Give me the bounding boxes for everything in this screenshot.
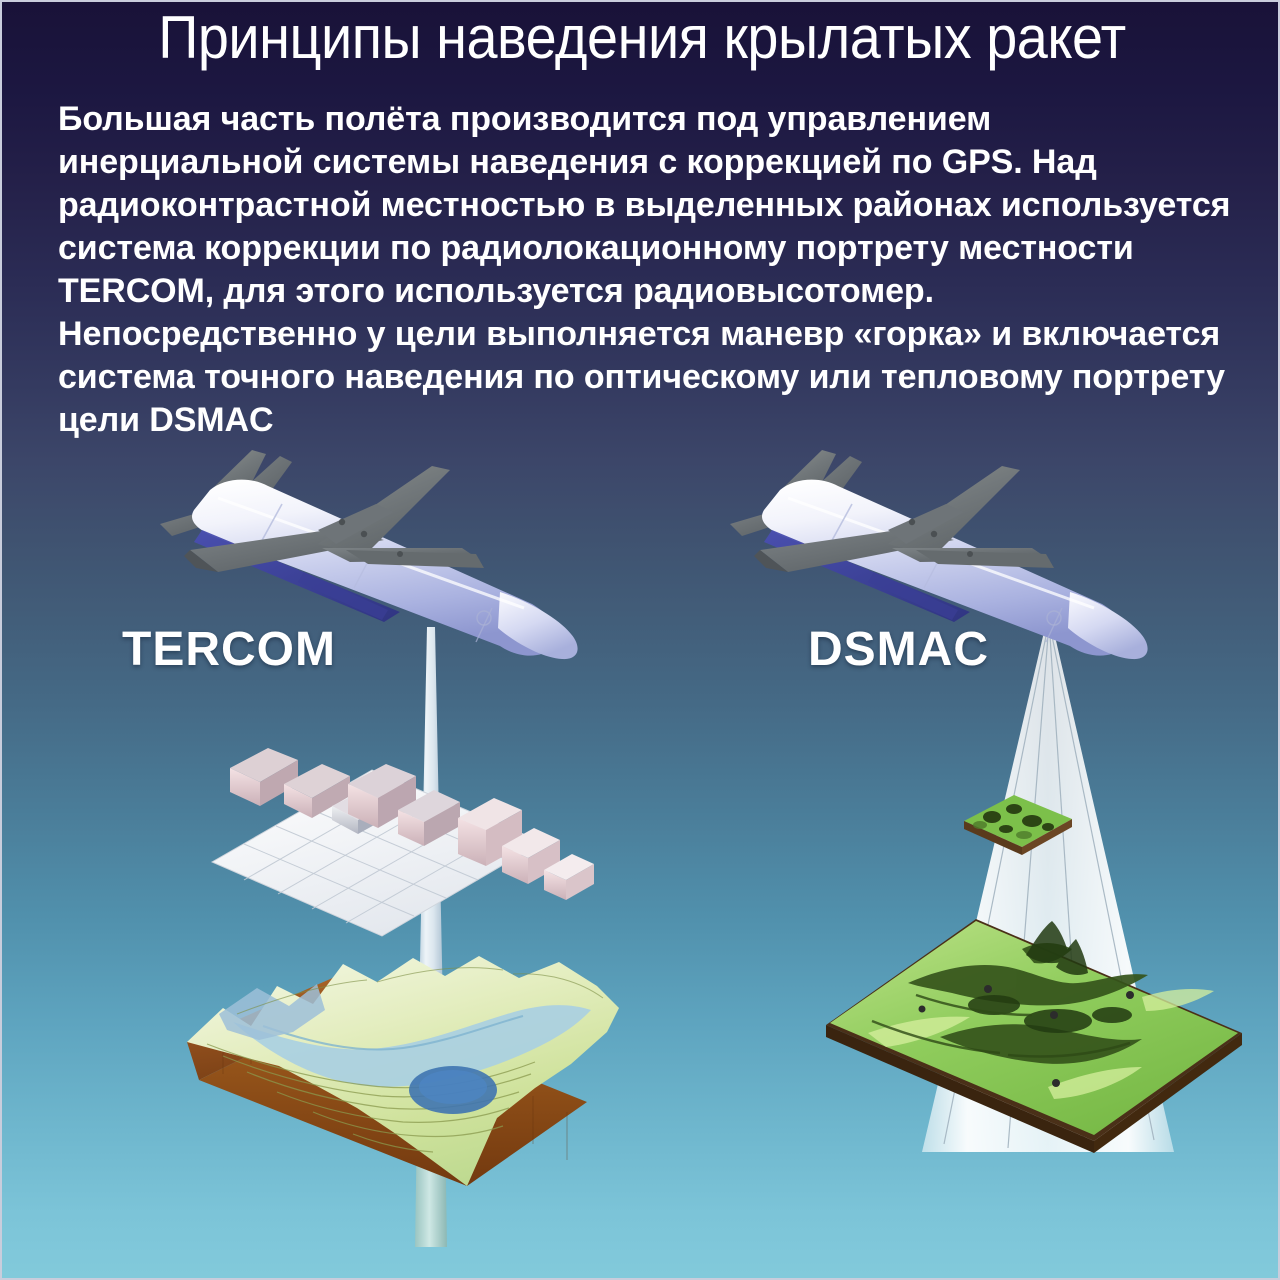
body-text-block: Большая часть полёта производится под уп… <box>58 98 1238 442</box>
body-paragraph-2: Непосредственно у цели выполняется манев… <box>58 313 1238 442</box>
tercom-diagram: TERCOM <box>122 432 662 1222</box>
reference-image-patch <box>952 787 1082 867</box>
presentation-slide: Принципы наведения крылатых ракет Больша… <box>0 0 1280 1280</box>
dsmac-diagram: DSMAC <box>702 432 1262 1152</box>
tercom-label: TERCOM <box>122 622 336 677</box>
terrain-relief-block <box>167 922 637 1222</box>
scene-terrain-block <box>812 887 1262 1157</box>
dsmac-label: DSMAC <box>808 622 989 677</box>
page-title: Принципы наведения крылатых ракет <box>47 8 1237 68</box>
body-paragraph-1: Большая часть полёта производится под уп… <box>58 98 1238 313</box>
